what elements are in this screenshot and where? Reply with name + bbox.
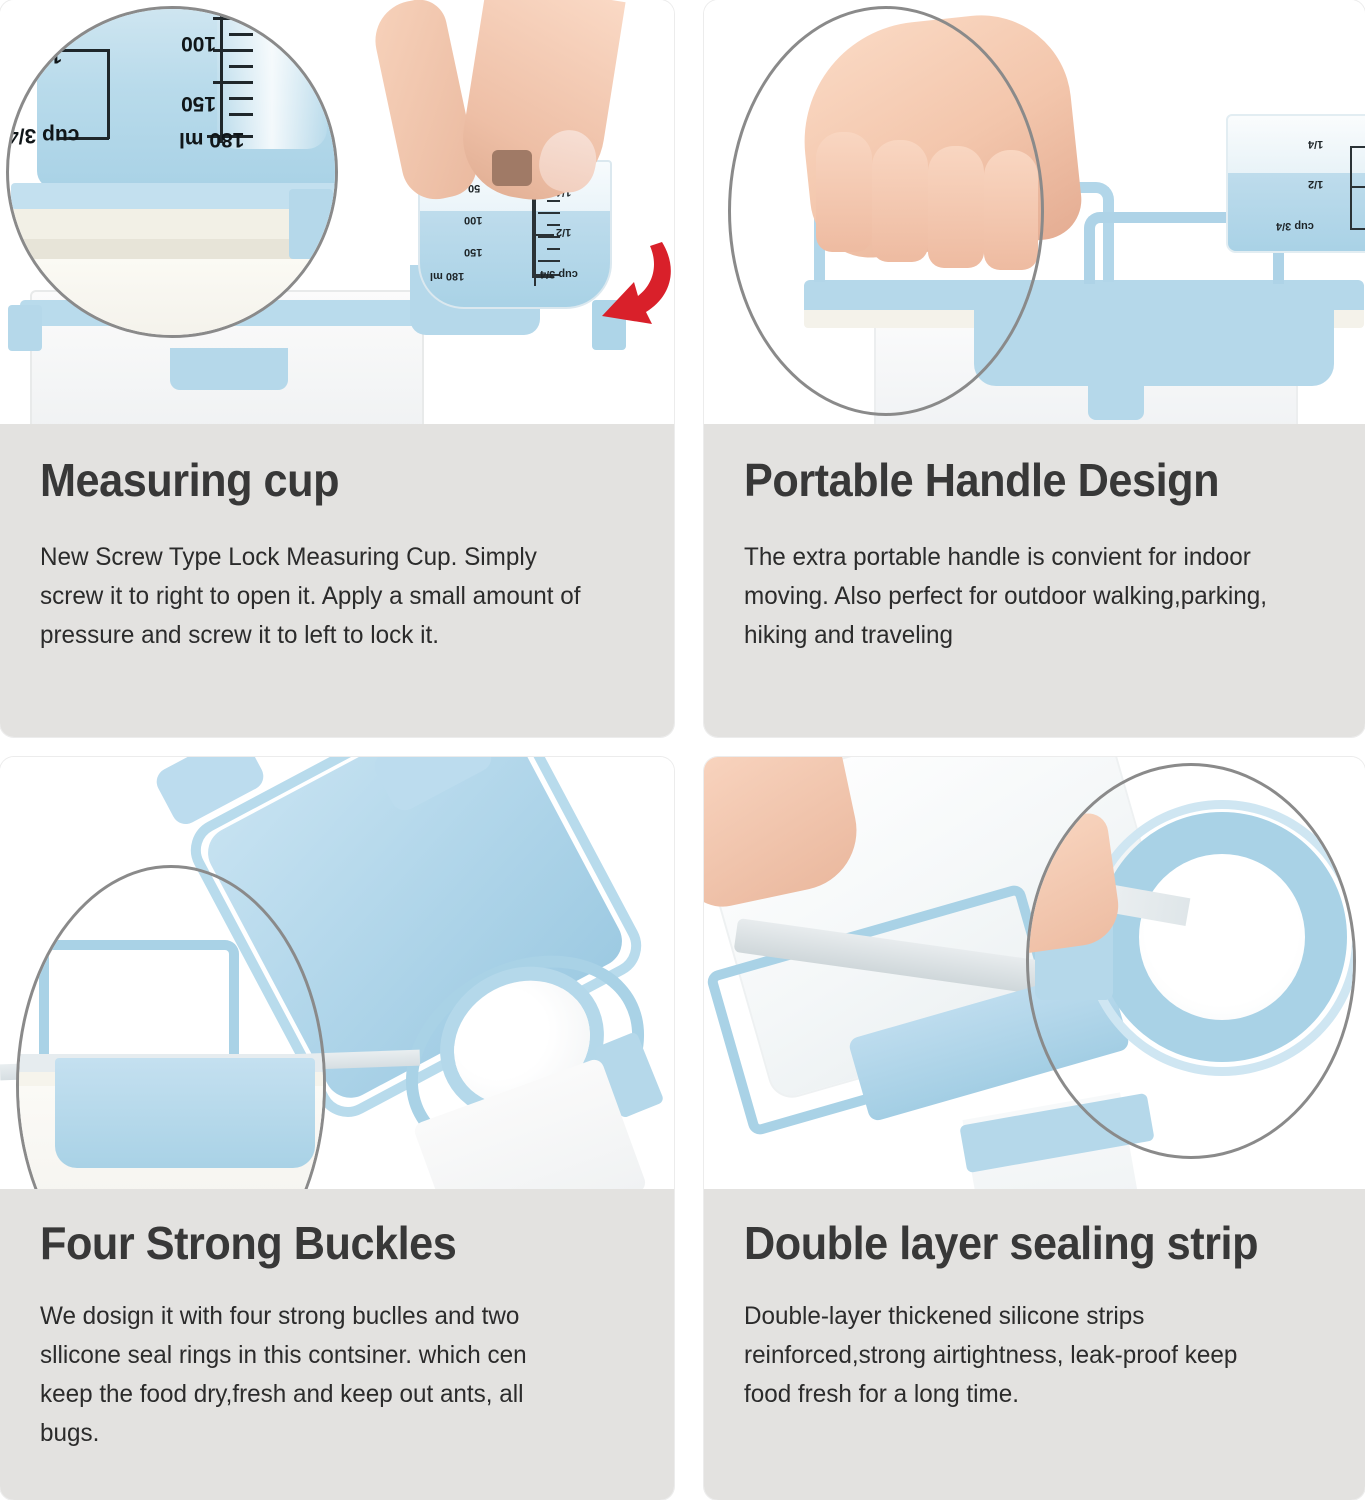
cup-label-180ml: 180 ml xyxy=(430,270,464,282)
panel-body-text: We dosign it with four strong buclles an… xyxy=(40,1297,583,1453)
caption-block: Double layer sealing strip Double-layer … xyxy=(704,1189,1365,1500)
panel-portable-handle: 1/4 1/2 cup 3/4 Portable Handle Design T… xyxy=(690,0,1365,745)
cup-tick xyxy=(538,212,560,214)
feature-grid: 50 100 150 180 ml 1/4 1/2 cup 3/4 xyxy=(0,0,1365,1500)
feature-card: Four Strong Buckles We dosign it with fo… xyxy=(0,757,674,1500)
cup-brace-arm xyxy=(1350,186,1365,188)
panel-heading: Four Strong Buckles xyxy=(40,1219,598,1267)
cup-brace-arm xyxy=(1350,146,1365,148)
caption-block: Measuring cup New Screw Type Lock Measur… xyxy=(0,424,674,737)
panel-body-text: Double-layer thickened silicone strips r… xyxy=(744,1297,1287,1414)
magnified-handle-wire xyxy=(39,940,239,1070)
buckle-front xyxy=(974,302,1334,386)
four-buckles-photo xyxy=(0,757,674,1189)
magnified-label-150: 150 xyxy=(181,91,216,115)
measuring-cup-photo: 50 100 150 180 ml 1/4 1/2 cup 3/4 xyxy=(0,0,674,424)
panel-body-text: New Screw Type Lock Measuring Cup. Simpl… xyxy=(40,538,583,655)
measuring-cup: 1/4 1/2 cup 3/4 xyxy=(1226,114,1365,253)
cup-label-half: 1/2 xyxy=(556,226,571,238)
cup-label-quarter: 1/4 xyxy=(1308,138,1323,150)
magnified-tick xyxy=(229,97,253,100)
caption-block: Portable Handle Design The extra portabl… xyxy=(704,424,1365,737)
cup-brace xyxy=(1350,146,1352,230)
magnified-brace-arm xyxy=(59,49,109,52)
magnified-tick xyxy=(213,81,253,84)
caption-block: Four Strong Buckles We dosign it with fo… xyxy=(0,1189,674,1500)
portable-handle-photo: 1/4 1/2 cup 3/4 xyxy=(704,0,1365,424)
magnified-tick xyxy=(229,33,253,36)
thumb xyxy=(368,0,482,206)
cup-tick xyxy=(538,260,560,262)
panel-measuring-cup: 50 100 150 180 ml 1/4 1/2 cup 3/4 xyxy=(0,0,690,745)
magnified-tick xyxy=(229,113,253,116)
magnified-silicone-ring xyxy=(1097,812,1347,1062)
red-curved-arrow-icon xyxy=(560,238,674,334)
magnified-scale-bar xyxy=(220,11,223,143)
cup-tick xyxy=(547,200,560,202)
panel-heading: Portable Handle Design xyxy=(744,456,1290,504)
magnified-container-body xyxy=(6,259,338,338)
feature-card: 1/4 1/2 cup 3/4 Portable Handle Design T… xyxy=(704,0,1365,737)
cup-brace-arm xyxy=(532,234,554,236)
magnified-tick xyxy=(213,17,253,20)
cup-brace xyxy=(532,194,534,278)
cup-label-150: 150 xyxy=(464,246,482,258)
panel-heading: Measuring cup xyxy=(40,456,598,504)
cup-label-half: 1/2 xyxy=(1308,178,1323,190)
magnified-tick xyxy=(229,65,253,68)
magnified-buckle xyxy=(289,189,333,259)
magnifier-portable-handle xyxy=(728,6,1044,416)
magnified-label-100: 100 xyxy=(181,31,216,55)
magnified-label-three-quarter: cup 3/4 xyxy=(7,123,79,147)
magnified-label-180ml: 180 ml xyxy=(179,127,244,151)
panel-heading: Double layer sealing strip xyxy=(744,1219,1290,1267)
panel-body-text: The extra portable handle is convient fo… xyxy=(744,538,1287,655)
cup-label-three-quarter: cup 3/4 xyxy=(1276,220,1314,232)
cup-contents xyxy=(1228,173,1365,251)
finger-shadow xyxy=(492,150,532,186)
cup-tick xyxy=(547,248,560,250)
buckle-front xyxy=(170,348,288,390)
magnified-buckle-clip xyxy=(55,1058,315,1168)
magnified-brace xyxy=(107,49,110,139)
panel-double-layer-sealing-strip: Double layer sealing strip Double-layer … xyxy=(690,745,1365,1500)
cup-label-100: 100 xyxy=(464,214,482,226)
magnifier-measuring-cup: 100 150 180 ml 1/2 cup 3/4 xyxy=(6,6,338,338)
feature-card: Double layer sealing strip Double-layer … xyxy=(704,757,1365,1500)
panel-four-strong-buckles: Four Strong Buckles We dosign it with fo… xyxy=(0,745,690,1500)
magnified-tick xyxy=(213,49,253,52)
sealing-strip-photo xyxy=(704,757,1365,1189)
feature-card: 50 100 150 180 ml 1/4 1/2 cup 3/4 xyxy=(0,0,674,737)
buckle-foot xyxy=(1088,384,1144,420)
magnifier-sealing-strip xyxy=(1026,763,1356,1159)
cup-brace-arm xyxy=(1350,228,1365,230)
magnified-label-half: 1/2 xyxy=(33,43,62,67)
